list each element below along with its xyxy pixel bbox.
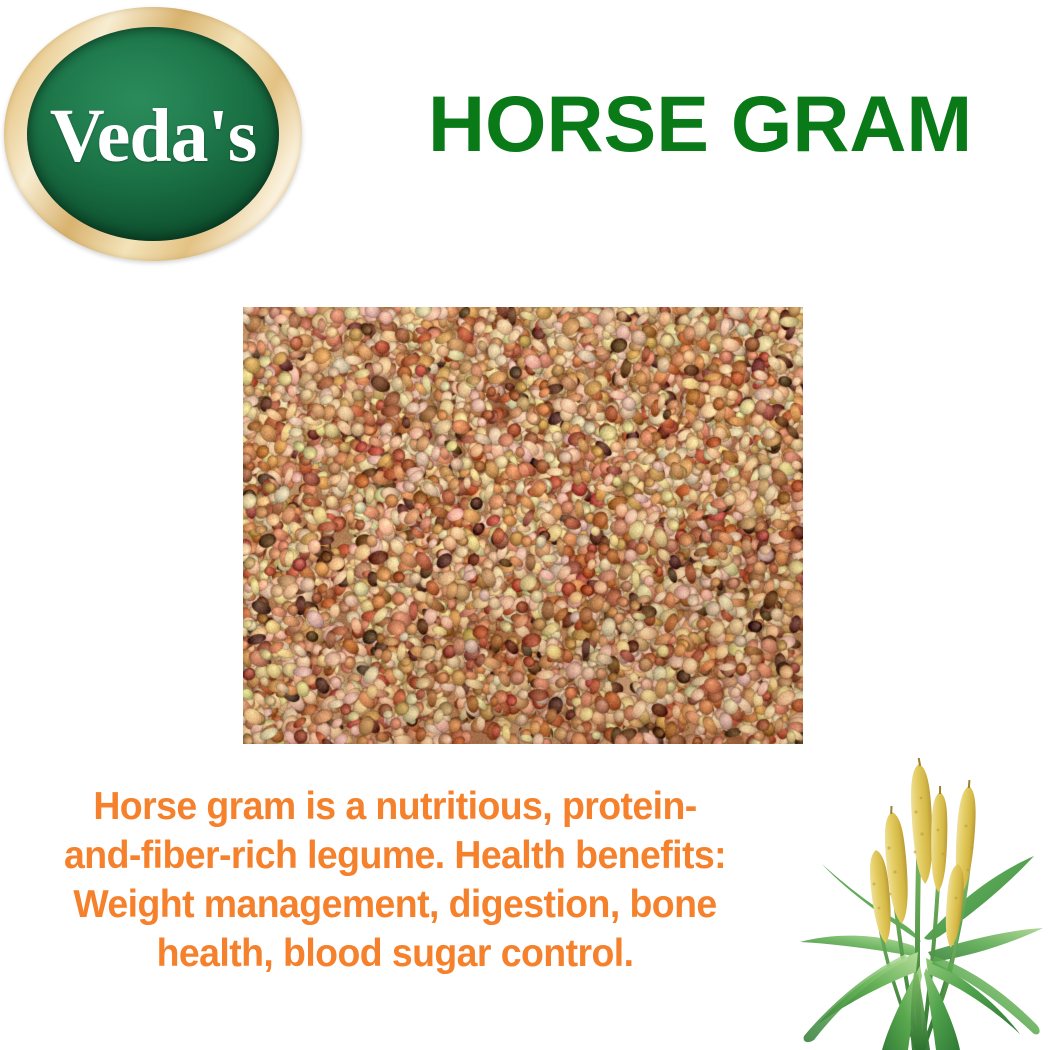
logo-brand-text: Veda's (50, 98, 257, 174)
plant-spikes (867, 757, 978, 948)
description-line: and-fiber-rich legume. Health benefits: (16, 831, 774, 880)
page-title: HORSE GRAM (428, 84, 988, 163)
plant-leaves-front (804, 952, 1040, 1050)
poster-canvas: Veda's HORSE GRAM Horse gram is a nutrit… (0, 0, 1050, 1050)
logo-green-oval: Veda's (27, 27, 279, 241)
description-line: Horse gram is a nutritious, protein- (16, 782, 774, 831)
millet-plant-illustration (788, 752, 1050, 1050)
brand-logo[interactable]: Veda's (4, 7, 302, 261)
description-line: health, blood sugar control. (16, 929, 774, 978)
seed-texture-canvas (243, 307, 803, 744)
product-photo-horse-gram (243, 307, 803, 744)
product-description: Horse gram is a nutritious, protein- and… (16, 782, 774, 978)
description-line: Weight management, digestion, bone (16, 880, 774, 929)
